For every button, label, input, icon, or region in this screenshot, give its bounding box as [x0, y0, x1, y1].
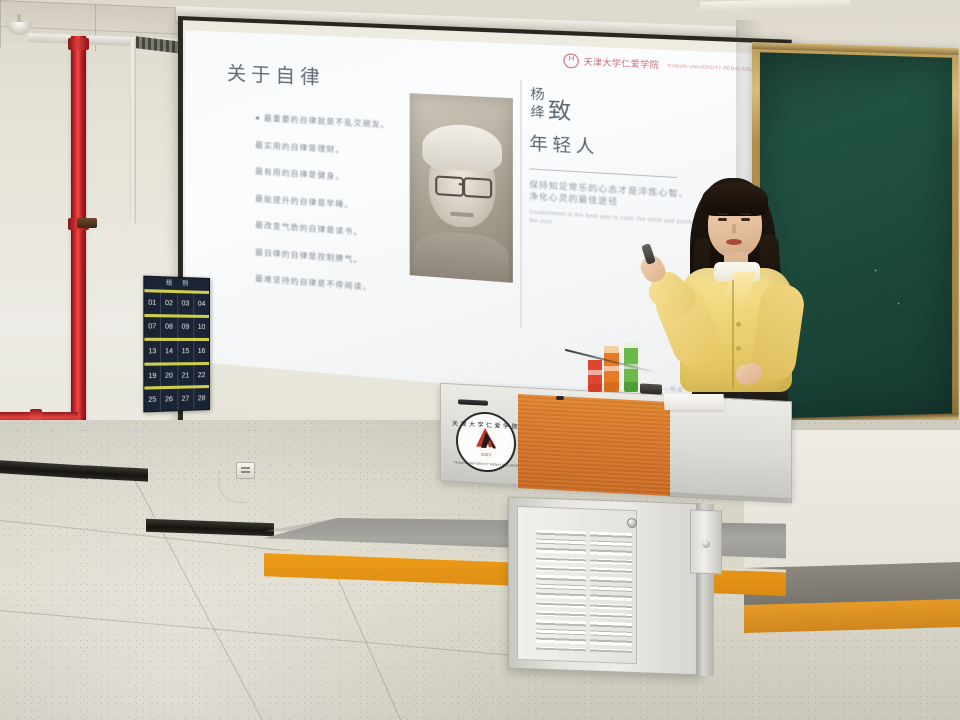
number-board-row: 07 08 09 10: [144, 314, 209, 339]
slide-portrait-photo: [410, 93, 513, 283]
seating-number-board: 组 别 01 02 03 04 07 08 09 10 13 14 15 16 …: [143, 276, 210, 413]
microphone-head-icon: [556, 396, 564, 400]
outlet-slot-icon: [241, 467, 250, 469]
nb-cell: 20: [161, 365, 178, 386]
presenter-eyebrow-left: [717, 213, 728, 215]
paper-stack[interactable]: [664, 394, 725, 410]
presenter-mouth: [726, 239, 742, 245]
slide-bullet: 最难坚持的自律是不停阅读。: [255, 273, 462, 300]
drink-carton-orange[interactable]: [604, 346, 619, 392]
slide-vertical-title: 杨绛: [529, 86, 543, 122]
cabinet-vent-left: [536, 530, 586, 652]
wall-conduit: [130, 38, 136, 223]
nb-cell: 22: [194, 365, 209, 386]
portrait-glasses-right: [463, 177, 492, 199]
lectern-wood-panel: [518, 394, 670, 496]
pipe-bracket: [77, 218, 97, 228]
emblem-en-name: TIANJIN UNIVERSITY RENAI COLLEGE: [454, 460, 519, 467]
lectern: 天津大学仁爱学院 2003 TIANJIN UNIVERSITY RENAI C…: [440, 392, 810, 682]
cabinet-vent-right: [590, 531, 632, 652]
nb-cell: 07: [144, 317, 161, 338]
nb-cell: 26: [161, 389, 178, 411]
portrait-body: [414, 230, 509, 283]
nb-cell: 16: [194, 341, 209, 362]
carton-band: [588, 370, 602, 375]
emblem-inner: 天津大学仁爱学院 2003 TIANJIN UNIVERSITY RENAI C…: [458, 413, 514, 472]
portrait-glasses-bridge: [459, 183, 465, 185]
classroom-scene: H 天津大学仁爱学院 TIANJIN UNIVERSITY RENAI COLL…: [0, 0, 960, 720]
nb-cell: 14: [161, 341, 178, 362]
cabinet-door[interactable]: [517, 506, 637, 664]
emblem-logo-icon: [473, 426, 499, 451]
nb-cell: 13: [144, 341, 161, 362]
nb-cell: 19: [144, 365, 161, 387]
nb-cell: 08: [161, 317, 178, 338]
number-board-row: 01 02 03 04: [144, 289, 209, 314]
chalk-mark: [875, 269, 877, 271]
portrait-hair: [422, 123, 502, 173]
portrait-glasses-left: [435, 175, 464, 197]
lectern-cabinet[interactable]: [508, 497, 702, 676]
presenter-hair-front: [702, 182, 768, 216]
slide-logo-cn-text: 天津大学仁爱学院: [584, 56, 660, 71]
presenter-eye-right: [741, 218, 750, 221]
nb-cell: 04: [194, 294, 209, 315]
slide-logo-mark-icon: H: [564, 53, 580, 68]
slide-accent-char: 致: [548, 87, 571, 123]
presenter-eyebrow-right: [740, 213, 751, 215]
presenter-eye-left: [718, 218, 727, 221]
school-emblem: 天津大学仁爱学院 2003 TIANJIN UNIVERSITY RENAI C…: [456, 410, 516, 473]
slide-vertical-title-row: 杨绛 致: [529, 86, 697, 130]
nb-cell: 01: [144, 292, 161, 314]
nb-cell: 02: [161, 293, 178, 314]
nb-cell: 25: [144, 390, 161, 412]
number-board-row: 25 26 27 28: [144, 385, 209, 411]
slide-title: 关于自律: [227, 58, 325, 90]
nb-cell: 27: [178, 389, 194, 410]
nb-cell: 10: [194, 317, 209, 338]
nb-head-cell: [193, 278, 209, 291]
number-board-row: 19 20 21 22: [144, 362, 209, 387]
nb-head-cell: [144, 277, 161, 290]
nb-head-cell: 别: [177, 278, 193, 291]
chalk-mark: [898, 303, 900, 305]
nb-cell: 15: [178, 341, 194, 362]
cabinet-lock-icon[interactable]: [627, 518, 637, 528]
lectern-leg-bolt: [702, 540, 710, 548]
presenter-jacket-seam: [732, 280, 734, 388]
presenter-jacket-button: [736, 346, 741, 351]
presenter: [640, 176, 830, 426]
carton-band: [604, 366, 619, 371]
pipe-collar-top: [68, 38, 89, 50]
number-board-row: 13 14 15 16: [144, 338, 209, 362]
nb-cell: 09: [178, 317, 194, 338]
slide-divider-vertical: [521, 80, 522, 328]
emblem-year: 2003: [481, 452, 491, 458]
nb-cell: 21: [178, 365, 194, 386]
slide-subtitle: 年轻人: [529, 128, 697, 164]
presenter-jacket-button: [736, 322, 741, 327]
fire-pipe-vertical: [71, 36, 86, 468]
nb-cell: 03: [178, 293, 194, 314]
nb-head-cell: 组: [161, 277, 177, 290]
presenter-nose: [732, 224, 736, 234]
nb-cell: 28: [194, 388, 209, 409]
microphone-base[interactable]: [640, 383, 662, 394]
